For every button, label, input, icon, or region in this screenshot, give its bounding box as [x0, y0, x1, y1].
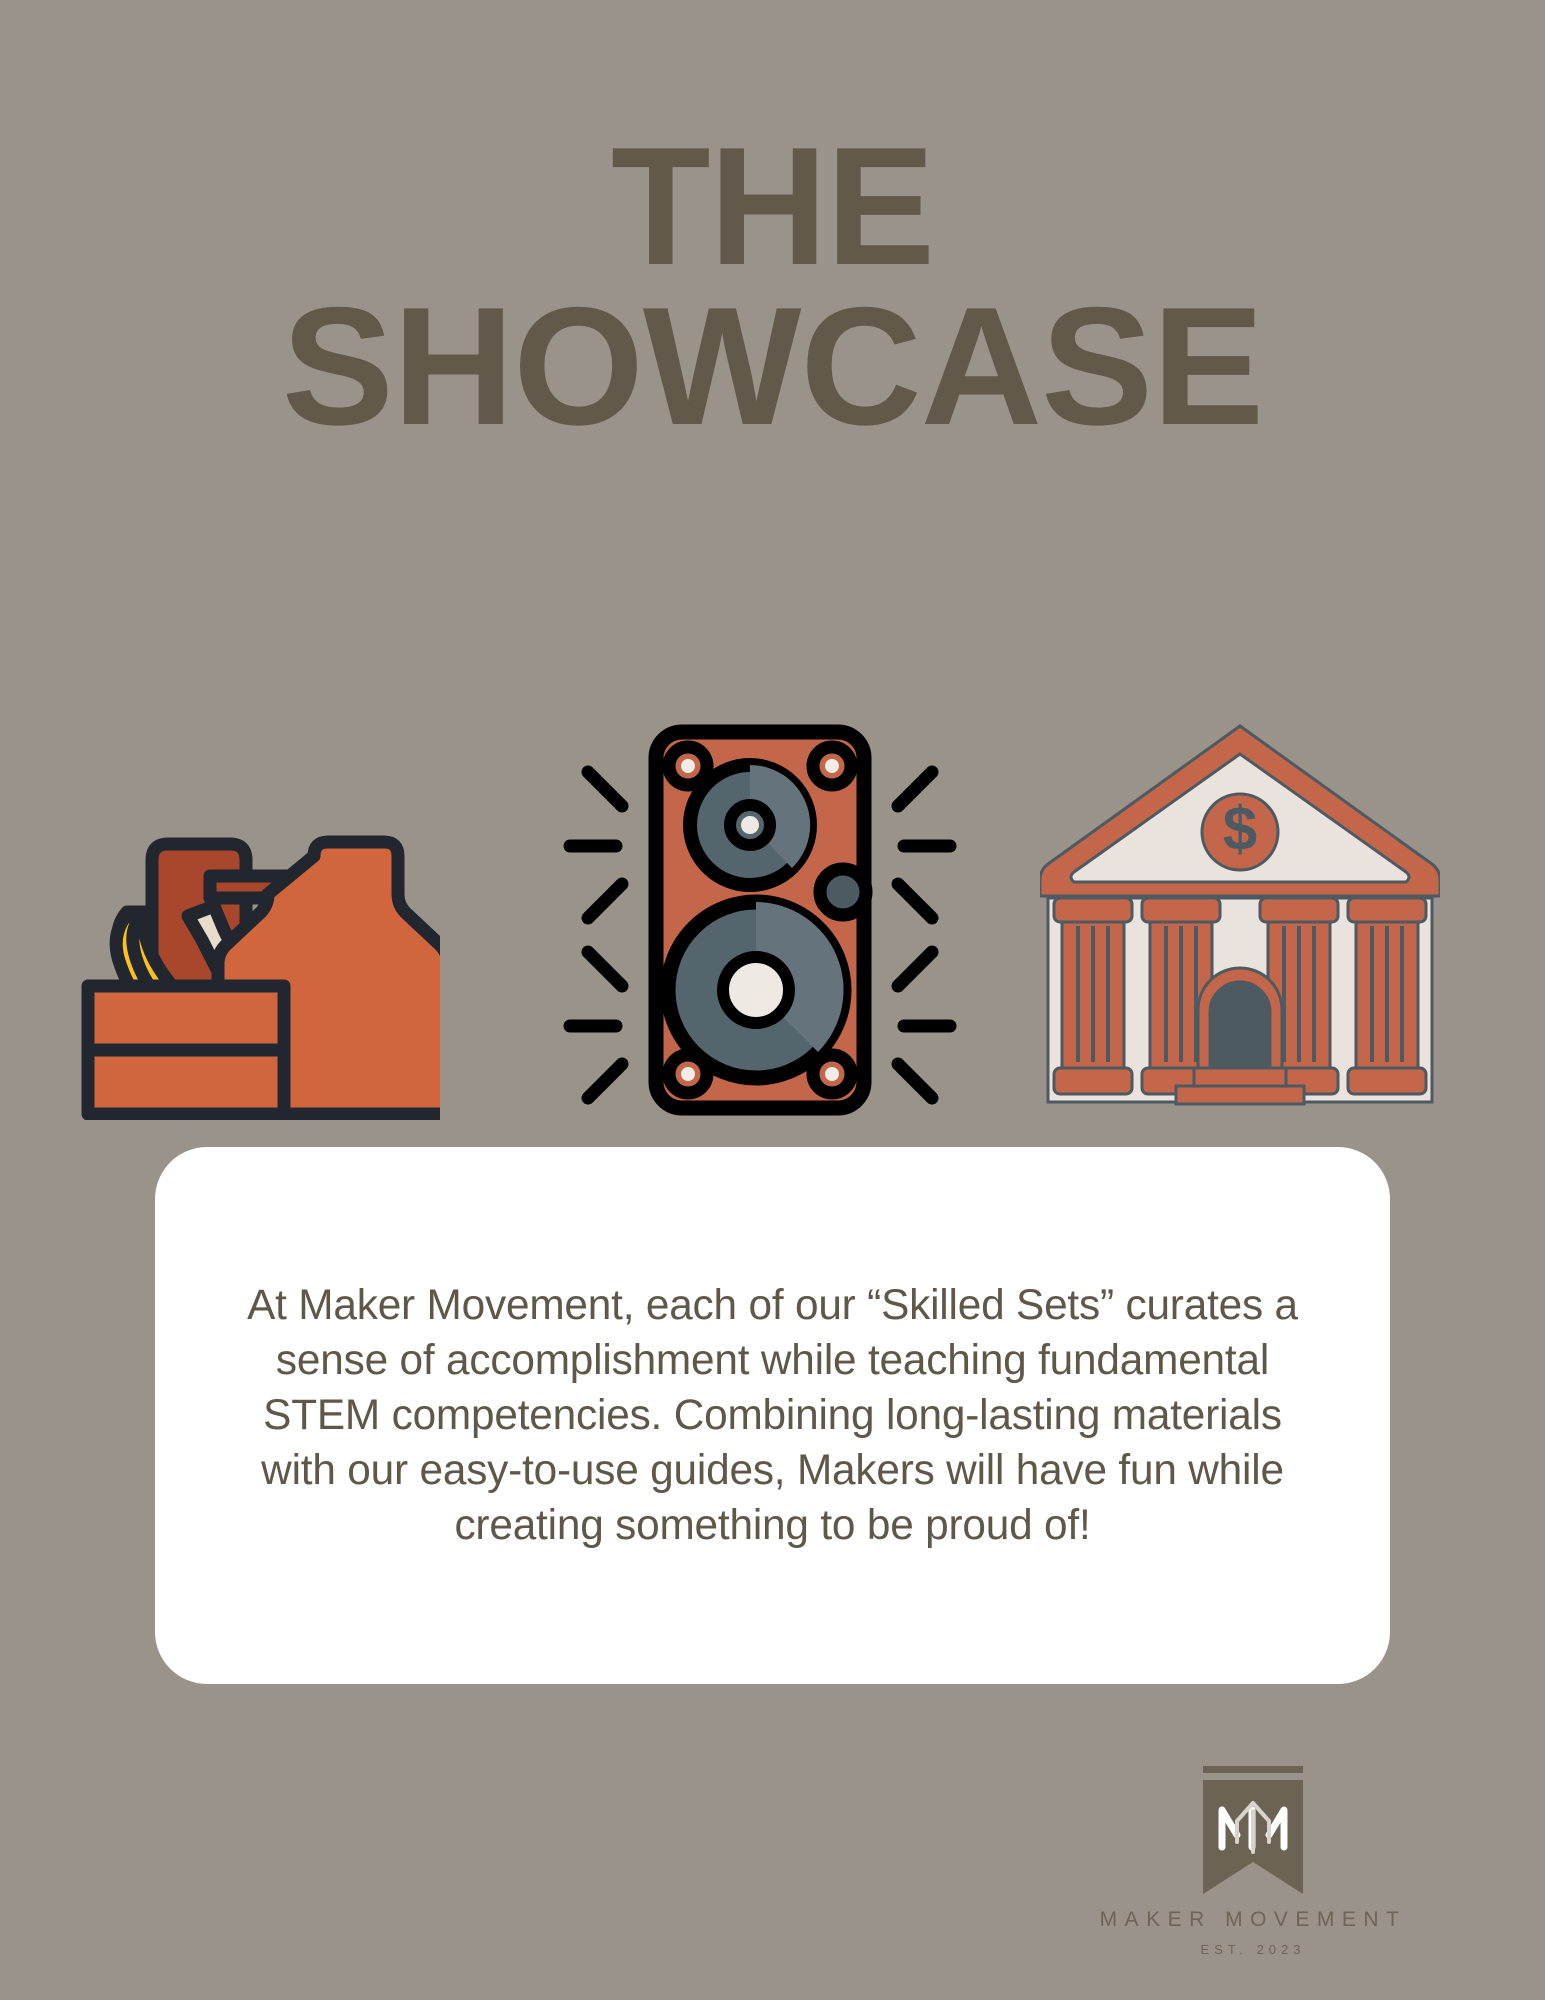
poster-root: THE SHOWCASE [0, 0, 1545, 2000]
banner-logo-icon [1201, 1766, 1305, 1894]
dollar-sign-icon: $ [1223, 795, 1257, 864]
logo-established: EST. 2023 [1038, 1942, 1468, 1957]
title-line-1: THE [23, 128, 1522, 284]
sound-waves-left [570, 772, 622, 1098]
sound-waves-right [898, 772, 950, 1098]
toolbox-icon [60, 720, 440, 1120]
logo-wordmark: MAKER MOVEMENT [1038, 1908, 1468, 1932]
brand-logo: MAKER MOVEMENT EST. 2023 [1038, 1766, 1468, 1957]
description-card: At Maker Movement, each of our “Skilled … [155, 1147, 1390, 1684]
page-title: THE SHOWCASE [0, 128, 1545, 444]
description-text: At Maker Movement, each of our “Skilled … [164, 1278, 1380, 1553]
icon-row: $ [0, 720, 1545, 1120]
bank-icon: $ [1040, 720, 1440, 1120]
title-line-2: SHOWCASE [0, 288, 1545, 444]
speaker-icon [560, 720, 960, 1120]
